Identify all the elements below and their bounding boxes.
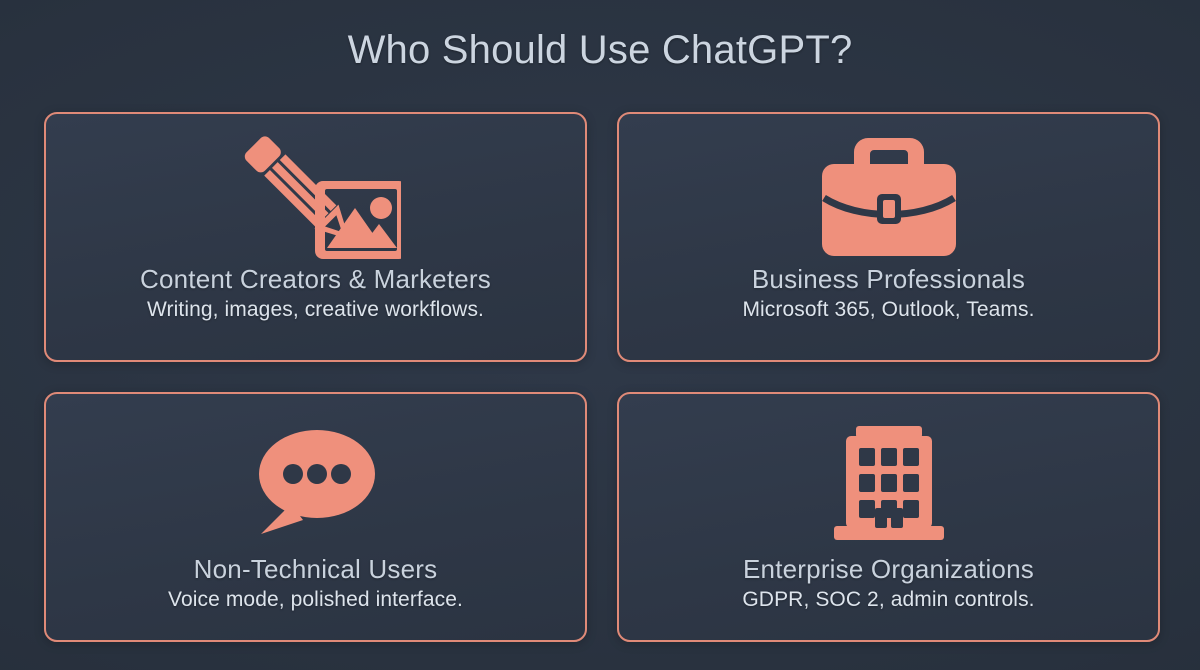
card-title: Content Creators & Marketers	[64, 264, 567, 294]
office-building-icon	[830, 394, 948, 554]
card-text-block: Enterprise Organizations GDPR, SOC 2, ad…	[619, 554, 1158, 640]
page-title: Who Should Use ChatGPT?	[0, 28, 1200, 73]
card-subtitle: Voice mode, polished interface.	[64, 587, 567, 612]
card-subtitle: GDPR, SOC 2, admin controls.	[637, 587, 1140, 612]
briefcase-icon	[814, 114, 964, 264]
pencil-and-image-icon	[231, 114, 401, 264]
card-business-professionals[interactable]: Business Professionals Microsoft 365, Ou…	[617, 112, 1160, 362]
card-non-technical-users[interactable]: Non-Technical Users Voice mode, polished…	[44, 392, 587, 642]
audience-card-grid: Content Creators & Marketers Writing, im…	[44, 112, 1160, 642]
card-subtitle: Writing, images, creative workflows.	[64, 297, 567, 322]
card-title: Non-Technical Users	[64, 554, 567, 584]
card-title: Enterprise Organizations	[637, 554, 1140, 584]
speech-bubble-icon	[251, 394, 381, 554]
card-text-block: Non-Technical Users Voice mode, polished…	[46, 554, 585, 640]
card-content-creators[interactable]: Content Creators & Marketers Writing, im…	[44, 112, 587, 362]
card-text-block: Content Creators & Marketers Writing, im…	[46, 264, 585, 360]
card-enterprise-organizations[interactable]: Enterprise Organizations GDPR, SOC 2, ad…	[617, 392, 1160, 642]
card-text-block: Business Professionals Microsoft 365, Ou…	[619, 264, 1158, 360]
card-subtitle: Microsoft 365, Outlook, Teams.	[637, 297, 1140, 322]
card-title: Business Professionals	[637, 264, 1140, 294]
slide-root: Who Should Use ChatGPT?	[0, 0, 1200, 670]
